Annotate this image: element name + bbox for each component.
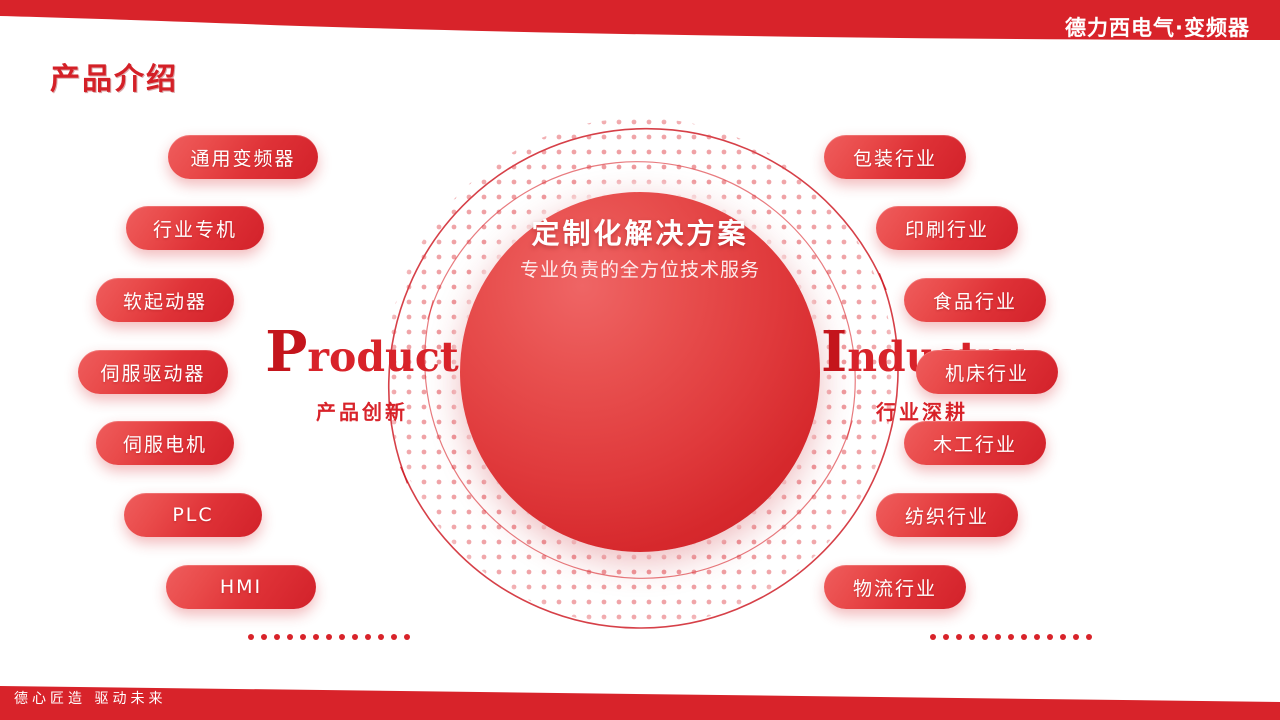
- section-heading-product: Product 产品创新: [232, 324, 492, 425]
- decor-dot: [365, 634, 371, 640]
- decor-dot: [248, 634, 254, 640]
- industry-pill-0[interactable]: 包装行业: [824, 135, 966, 179]
- decor-dot: [1060, 634, 1066, 640]
- pill-label: 软起动器: [123, 287, 207, 314]
- product-pill-2[interactable]: 软起动器: [96, 278, 234, 322]
- product-pill-1[interactable]: 行业专机: [126, 206, 264, 250]
- decor-dot: [1073, 634, 1079, 640]
- pill-label: 纺织行业: [905, 502, 989, 529]
- decor-dot: [995, 634, 1001, 640]
- product-en-capital: P: [265, 319, 307, 385]
- product-pill-4[interactable]: 伺服电机: [96, 421, 234, 465]
- decor-dot: [313, 634, 319, 640]
- decor-dot: [404, 634, 410, 640]
- pill-label: 伺服电机: [123, 430, 207, 457]
- dot-row-left: [248, 634, 410, 640]
- decor-dot: [1086, 634, 1092, 640]
- industry-pill-1[interactable]: 印刷行业: [876, 206, 1018, 250]
- decor-dot: [1021, 634, 1027, 640]
- decor-dot: [300, 634, 306, 640]
- pill-label: 食品行业: [933, 287, 1017, 314]
- pill-label: HMI: [220, 576, 262, 598]
- brand-logo-text: 德力西电气·变频器: [1065, 12, 1250, 42]
- industry-pill-2[interactable]: 食品行业: [904, 278, 1046, 322]
- decor-dot: [261, 634, 267, 640]
- industry-en-capital: I: [821, 319, 847, 385]
- footer-bar: [0, 672, 1280, 720]
- decor-dot: [378, 634, 384, 640]
- industry-pill-6[interactable]: 物流行业: [824, 565, 966, 609]
- product-pill-6[interactable]: HMI: [166, 565, 316, 609]
- pill-label: 行业专机: [153, 215, 237, 242]
- product-en-rest: roduct: [307, 333, 458, 381]
- industry-pill-3[interactable]: 机床行业: [916, 350, 1058, 394]
- decor-dot: [274, 634, 280, 640]
- decor-dot: [930, 634, 936, 640]
- decor-dot: [1008, 634, 1014, 640]
- decor-dot: [1047, 634, 1053, 640]
- pill-label: 印刷行业: [905, 215, 989, 242]
- industry-pill-5[interactable]: 纺织行业: [876, 493, 1018, 537]
- decor-dot: [956, 634, 962, 640]
- decor-dot: [982, 634, 988, 640]
- page-title: 产品介绍: [50, 54, 178, 98]
- center-subtitle: 专业负责的全方位技术服务: [360, 255, 920, 282]
- pill-label: PLC: [172, 504, 213, 526]
- decor-dot: [287, 634, 293, 640]
- decor-dot: [943, 634, 949, 640]
- pill-label: 包装行业: [853, 144, 937, 171]
- footer-bar-shape: [0, 672, 1280, 720]
- decor-dot: [1034, 634, 1040, 640]
- dot-row-right: [930, 634, 1092, 640]
- decor-dot: [969, 634, 975, 640]
- decor-dot: [391, 634, 397, 640]
- pill-label: 通用变频器: [190, 144, 295, 171]
- product-pill-3[interactable]: 伺服驱动器: [78, 350, 228, 394]
- slide-root: 德力西电气·变频器 产品介绍: [0, 0, 1280, 720]
- product-pill-0[interactable]: 通用变频器: [168, 135, 318, 179]
- product-pill-5[interactable]: PLC: [124, 493, 262, 537]
- product-en-label: Product: [232, 324, 492, 380]
- decor-dot: [352, 634, 358, 640]
- center-title: 定制化解决方案: [360, 212, 920, 252]
- industry-pill-4[interactable]: 木工行业: [904, 421, 1046, 465]
- footer-slogan: 德心匠造 驱动未来: [14, 688, 166, 708]
- product-cn-label: 产品创新: [232, 396, 492, 425]
- pill-label: 木工行业: [933, 430, 1017, 457]
- pill-label: 机床行业: [945, 359, 1029, 386]
- pill-label: 物流行业: [853, 574, 937, 601]
- decor-dot: [339, 634, 345, 640]
- pill-label: 伺服驱动器: [100, 359, 205, 386]
- decor-dot: [326, 634, 332, 640]
